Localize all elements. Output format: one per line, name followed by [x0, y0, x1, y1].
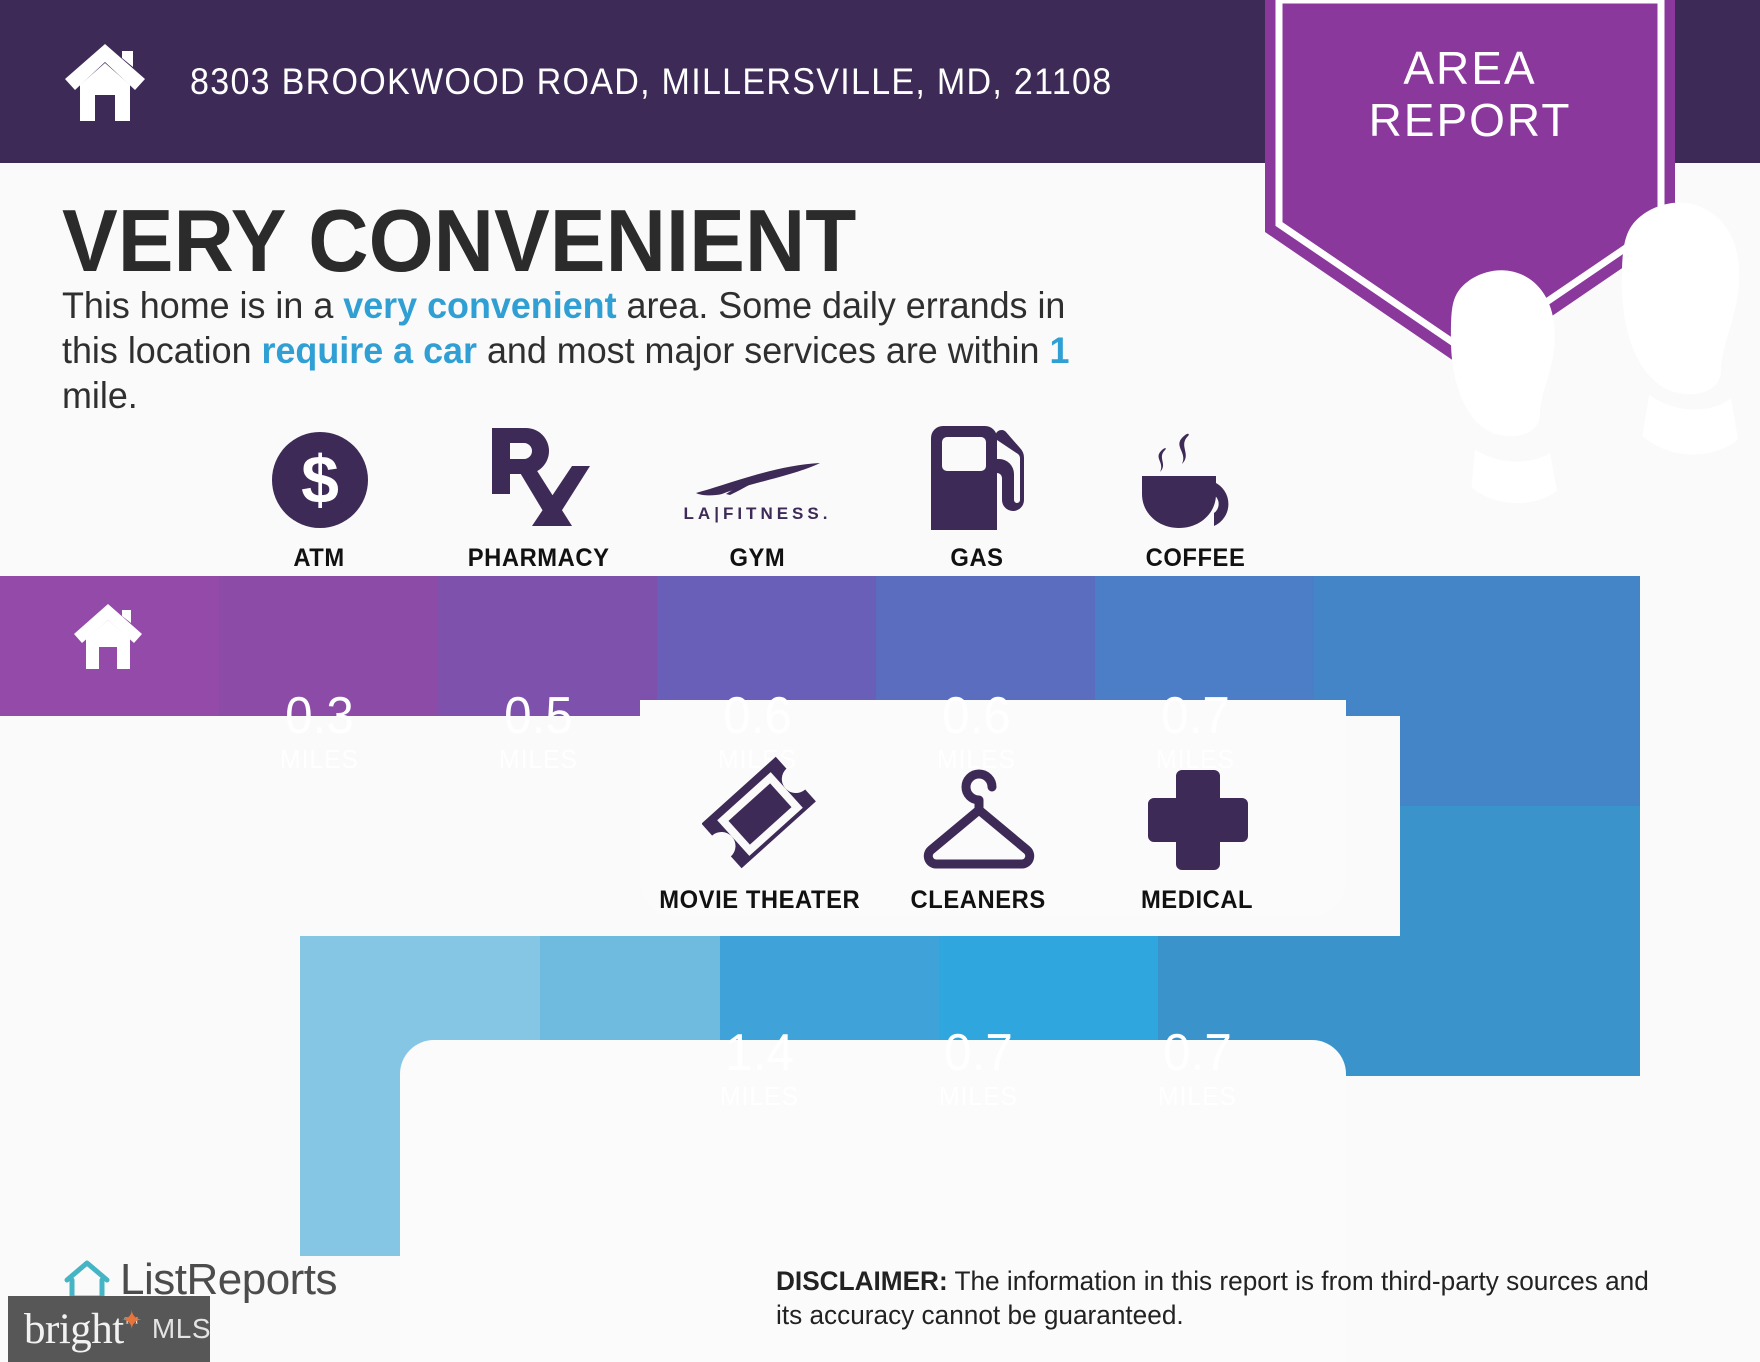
bright-wordmark: bright✦™ — [24, 1305, 138, 1354]
area-report-badge: AREA REPORT — [1265, 0, 1675, 372]
amenity-movie-theater: MOVIE THEATER — [650, 760, 869, 915]
summary-highlight-2: require a car — [262, 330, 477, 371]
summary-highlight-3: 1 — [1049, 330, 1069, 371]
amenity-icon-wrap: LA|FITNESS. — [684, 418, 832, 530]
amenity-label: MEDICAL — [1141, 886, 1253, 915]
home-icon — [62, 41, 148, 123]
footprints-icon — [1410, 168, 1760, 540]
amenity-coffee: COFFEE — [1086, 418, 1305, 573]
amenity-icon-wrap — [925, 418, 1029, 530]
summary-description: This home is in a very convenient area. … — [62, 283, 1119, 418]
svg-text:$: $ — [301, 442, 339, 518]
amenity-cleaners: CLEANERS — [869, 760, 1088, 915]
amenity-label: CLEANERS — [911, 886, 1046, 915]
summary-part-3: and most major services are within — [477, 330, 1049, 371]
gas-pump-icon — [925, 426, 1029, 530]
medical-cross-icon — [1146, 768, 1250, 872]
rx-icon — [486, 426, 592, 530]
property-address: 8303 BROOKWOOD ROAD, MILLERSVILLE, MD, 2… — [190, 61, 1112, 103]
amenity-medical: MEDICAL — [1088, 760, 1307, 915]
badge-line-1: AREA — [1265, 42, 1675, 94]
coffee-cup-icon — [1140, 424, 1252, 530]
amenity-label: MOVIE THEATER — [659, 886, 860, 915]
la-fitness-wordmark: LA|FITNESS. — [684, 504, 832, 524]
amenity-label: GAS — [950, 544, 1003, 573]
amenity-label: COFFEE — [1146, 544, 1246, 573]
disclaimer-label: DISCLAIMER: — [776, 1266, 948, 1296]
dollar-circle-icon: $ — [270, 430, 370, 530]
badge-label: AREA REPORT — [1265, 42, 1675, 146]
bright-word-text: bright — [24, 1306, 124, 1353]
amenity-icon-wrap: $ — [270, 418, 370, 530]
mls-suffix: MLS — [152, 1313, 211, 1345]
amenity-gas: GAS — [867, 418, 1086, 573]
bright-mls-watermark: bright✦™ MLS — [8, 1296, 210, 1362]
page-title: VERY CONVENIENT — [62, 190, 856, 292]
amenity-label: PHARMACY — [468, 544, 610, 573]
house-outline-icon — [64, 1259, 110, 1301]
amenity-pharmacy: PHARMACY — [429, 418, 648, 573]
bright-star-icon: ✦ — [121, 1311, 141, 1331]
summary-highlight-1: very convenient — [343, 285, 616, 326]
amenity-gym: LA|FITNESS. GYM — [648, 418, 867, 573]
hanger-icon — [921, 762, 1037, 872]
amenity-icon-wrap — [702, 760, 818, 872]
amenity-icon-wrap — [921, 760, 1037, 872]
amenity-icon-wrap — [1146, 760, 1250, 872]
la-fitness-swoosh-icon — [692, 463, 824, 497]
amenity-icons-row-1: $ ATM PHARMACY LA|FI — [210, 418, 1305, 573]
home-icon — [72, 602, 144, 670]
amenity-label: GYM — [730, 544, 786, 573]
la-fitness-logo: LA|FITNESS. — [684, 463, 832, 530]
amenity-icon-wrap — [1140, 418, 1252, 530]
disclaimer: DISCLAIMER: The information in this repo… — [776, 1264, 1668, 1332]
summary-part-1: This home is in a — [62, 285, 343, 326]
ticket-icon — [702, 756, 818, 872]
summary-part-4: mile. — [62, 375, 138, 416]
amenity-atm: $ ATM — [210, 418, 429, 573]
amenity-label: ATM — [294, 544, 345, 573]
amenity-icons-row-2: MOVIE THEATER CLEANERS MEDICAL — [650, 760, 1307, 915]
badge-line-2: REPORT — [1265, 94, 1675, 146]
amenity-icon-wrap — [486, 418, 592, 530]
